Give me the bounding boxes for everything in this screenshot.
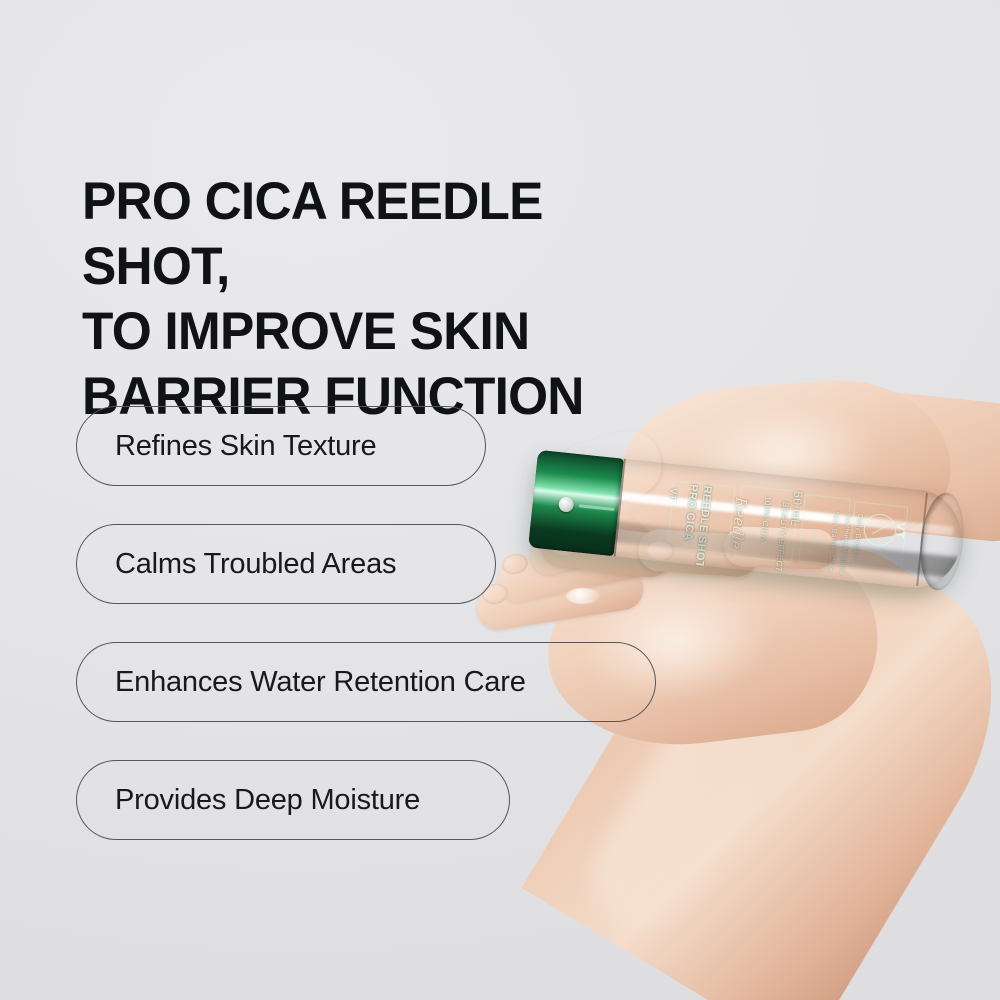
label-brand-mark: VT [892,521,909,539]
benefit-pill-calms-troubled-areas[interactable]: Calms Troubled Areas [76,524,496,604]
benefit-pill-refines-skin-texture[interactable]: Refines Skin Texture [76,406,486,486]
benefit-label: Refines Skin Texture [115,430,376,463]
benefit-list: Refines Skin Texture Calms Troubled Area… [76,406,656,840]
benefit-label: Enhances Water Retention Care [115,666,526,699]
benefit-pill-enhances-water-retention-care[interactable]: Enhances Water Retention Care [76,642,656,722]
benefit-label: Calms Troubled Areas [115,548,396,581]
benefit-pill-provides-deep-moisture[interactable]: Provides Deep Moisture [76,760,510,840]
product-marketing-banner: PRO CICA REEDLE SHOT, TO IMPROVE SKIN BA… [0,0,1000,1000]
benefit-label: Provides Deep Moisture [115,784,420,817]
label-brand: VT [668,488,679,501]
